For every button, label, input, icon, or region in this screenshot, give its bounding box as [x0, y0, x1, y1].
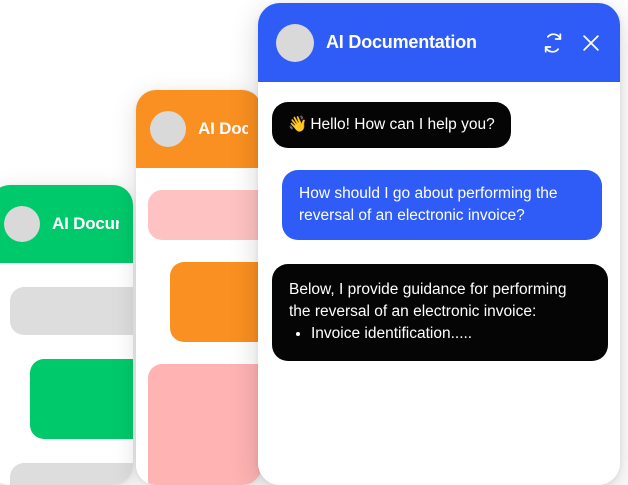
- chat-message-user: How should I go about performing the rev…: [282, 170, 602, 240]
- chat-card-orange-body: [136, 168, 262, 485]
- chat-message-bot: 👋Hello! How can I help you?: [272, 102, 511, 148]
- refresh-icon[interactable]: [542, 32, 564, 54]
- page-title: AI Documentation: [326, 32, 477, 53]
- message-placeholder-accent: [170, 262, 262, 342]
- chat-message-text: Hello! How can I help you?: [310, 116, 494, 133]
- chat-card-green[interactable]: AI Documentation: [0, 185, 133, 485]
- chat-window-header: AI Documentation: [258, 3, 620, 82]
- chat-message-text: How should I go about performing the rev…: [299, 185, 558, 224]
- page-title: AI Documentation: [52, 214, 119, 234]
- message-placeholder: [10, 287, 133, 335]
- chat-message-list: 👋Hello! How can I help you? How should I…: [258, 82, 620, 485]
- chat-message-list-items: Invoice identification.....: [289, 323, 591, 345]
- header-actions: [542, 32, 602, 54]
- chat-message-bot: Below, I provide guidance for performing…: [272, 264, 608, 361]
- chat-message-text: Below, I provide guidance for performing…: [289, 279, 591, 323]
- chat-card-blue[interactable]: AI Documentation: [258, 3, 620, 485]
- avatar: [276, 24, 314, 62]
- chat-card-green-body: [0, 263, 133, 485]
- avatar: [150, 111, 186, 147]
- close-icon[interactable]: [580, 32, 602, 54]
- avatar: [4, 206, 40, 242]
- chat-card-orange[interactable]: AI Documentation: [136, 90, 262, 485]
- message-placeholder: [148, 190, 262, 240]
- message-placeholder-accent: [30, 359, 133, 439]
- page-title: AI Documentation: [198, 119, 248, 139]
- message-placeholder: [10, 463, 133, 485]
- chat-card-orange-header: AI Documentation: [136, 90, 262, 168]
- waving-hand-icon: 👋: [288, 116, 307, 133]
- message-placeholder: [148, 364, 262, 485]
- chat-widget-stack: AI Documentation AI Documentation AI Doc…: [0, 0, 628, 471]
- list-item: Invoice identification.....: [311, 323, 591, 345]
- chat-card-green-header: AI Documentation: [0, 185, 133, 263]
